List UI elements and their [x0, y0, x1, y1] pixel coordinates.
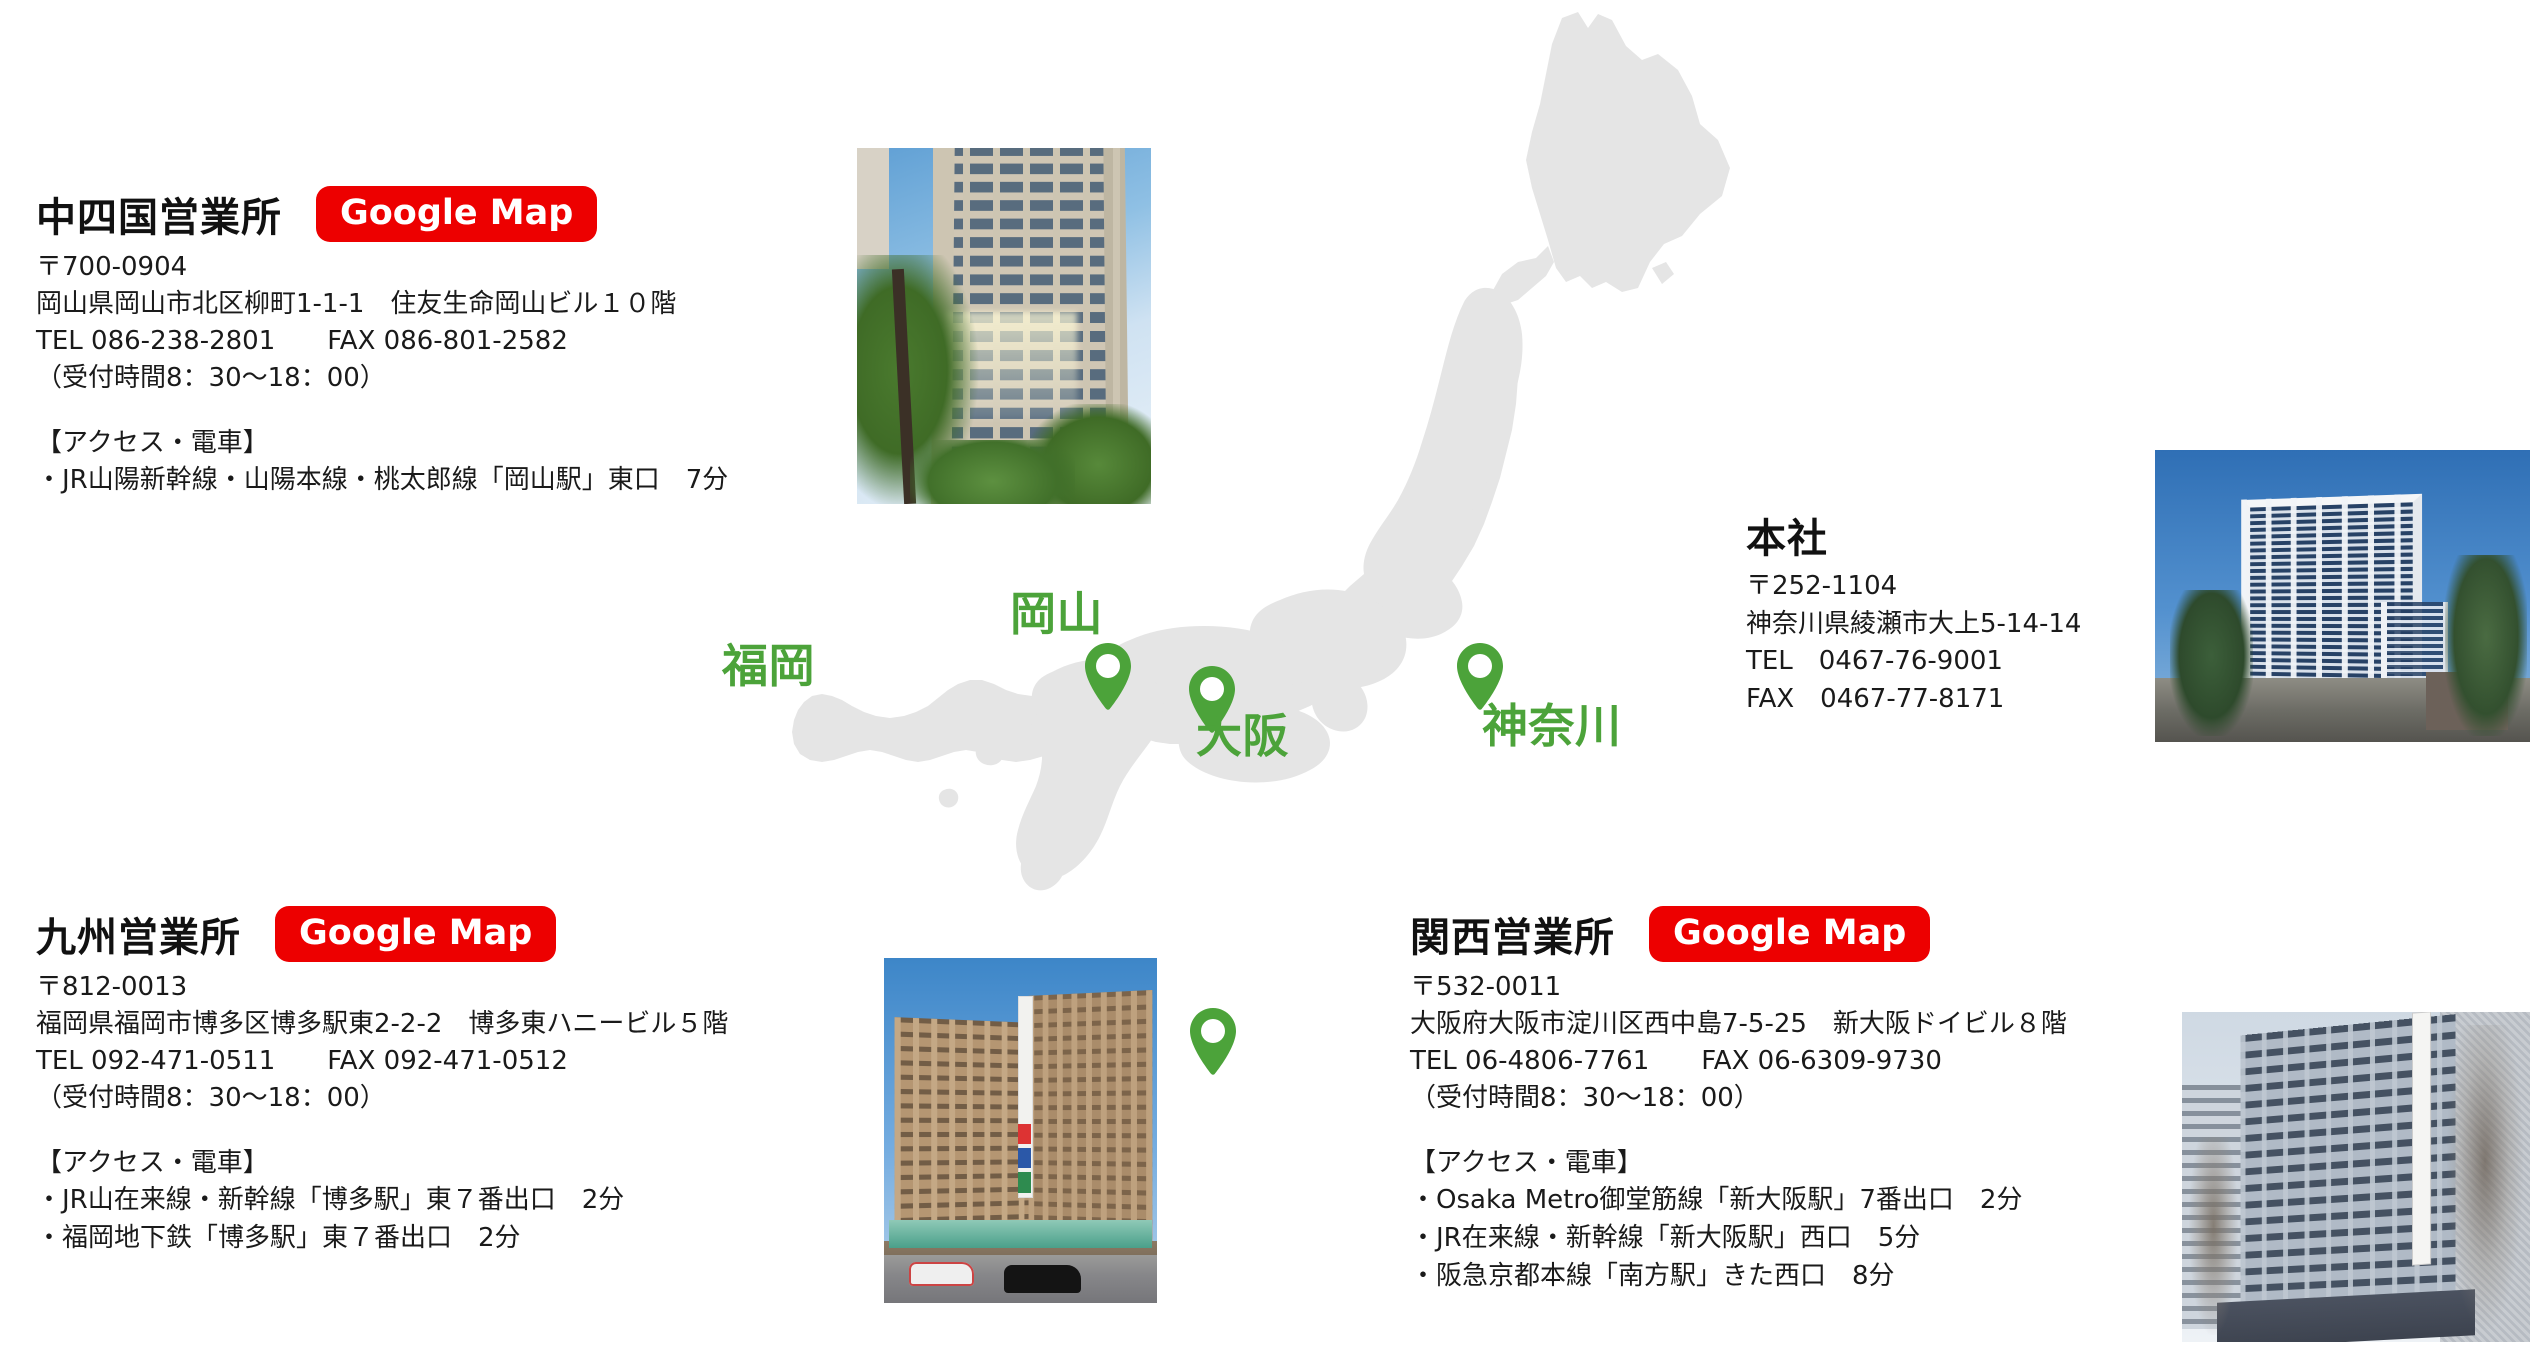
photo-sign-panel-red [1018, 1124, 1032, 1145]
office-title-kansai: 関西営業所 [1410, 905, 1615, 963]
spacer [36, 397, 728, 425]
photo-sign-panel-green [1018, 1172, 1032, 1193]
postal-code-kyushu: 〒812-0013 [36, 969, 728, 1006]
photo-shop-canopy [889, 1220, 1151, 1248]
office-header-kansai: 関西営業所 Google Map [1410, 905, 2067, 963]
photo-adjacent-building [857, 148, 889, 269]
postal-code-chushikoku: 〒700-0904 [36, 249, 728, 286]
office-block-kyushu: 九州営業所 Google Map 〒812-0013 福岡県福岡市博多区博多駅東… [36, 905, 728, 1258]
office-header-kyushu: 九州営業所 Google Map [36, 905, 728, 963]
photo-bottom-tree [910, 440, 1075, 504]
access-heading-kansai: 【アクセス・電車】 [1410, 1145, 2067, 1183]
photo-right-tree [2445, 555, 2528, 736]
photo-bare-tree-right [2447, 1025, 2524, 1329]
address-kansai: 大阪府大阪市淀川区西中島7-5-25 新大阪ドイビル８階 [1410, 1006, 2067, 1043]
tel-fax-kyushu: TEL 092-471-0511 FAX 092-471-0512 [36, 1043, 728, 1080]
access-line-kyushu-1: ・JR山在来線・新幹線「博多駅」東７番出口 2分 [36, 1182, 728, 1220]
access-line-chushikoku-1: ・JR山陽新幹線・山陽本線・桃太郎線「岡山駅」東口 7分 [36, 462, 728, 500]
business-hours-chushikoku: （受付時間8：30〜18：00） [36, 360, 728, 397]
photo-taxi-black [1004, 1265, 1080, 1293]
access-line-kansai-1: ・Osaka Metro御堂筋線「新大阪駅」7番出口 2分 [1410, 1182, 2067, 1220]
photo-right-face-columns [1028, 989, 1151, 1250]
office-block-honsha: 本社 〒252-1104 神奈川県綾瀬市大上5-14-14 TEL 0467-7… [1746, 506, 2081, 719]
city-label-fukuoka: 福岡 [722, 630, 815, 696]
office-title-chushikoku: 中四国営業所 [36, 185, 282, 243]
office-block-kansai: 関西営業所 Google Map 〒532-0011 大阪府大阪市淀川区西中島7… [1410, 905, 2067, 1295]
google-map-button-kansai[interactable]: Google Map [1649, 906, 1930, 962]
address-kyushu: 福岡県福岡市博多区博多駅東2-2-2 博多東ハニービル５階 [36, 1006, 728, 1043]
office-title-honsha: 本社 [1746, 506, 2081, 564]
kansai-office-building-photo [2182, 1012, 2530, 1342]
photo-sign-panel-blue [1018, 1148, 1032, 1169]
tel-fax-chushikoku: TEL 086-238-2801 FAX 086-801-2582 [36, 323, 728, 360]
access-heading-kyushu: 【アクセス・電車】 [36, 1145, 728, 1183]
google-map-button-chushikoku[interactable]: Google Map [316, 186, 597, 242]
chushikoku-office-building-photo [857, 148, 1151, 504]
office-header-chushikoku: 中四国営業所 Google Map [36, 185, 728, 243]
page-canvas: 福岡 岡山 大阪 神奈川 中四国営業所 Google Map 〒700-0904… [0, 0, 2530, 1361]
city-label-osaka: 大阪 [1196, 700, 1289, 766]
map-pin-fukuoka[interactable] [1186, 1006, 1240, 1078]
city-label-kanagawa: 神奈川 [1482, 690, 1622, 756]
fax-honsha: FAX 0467-77-8171 [1746, 681, 2081, 719]
photo-vertical-signboard [2412, 1012, 2431, 1265]
access-line-kansai-2: ・JR在来線・新幹線「新大阪駅」西口 5分 [1410, 1220, 2067, 1258]
access-line-kyushu-2: ・福岡地下鉄「博多駅」東７番出口 2分 [36, 1220, 728, 1258]
honsha-headquarters-building-photo [2155, 450, 2530, 742]
office-title-kyushu: 九州営業所 [36, 905, 241, 963]
tel-honsha: TEL 0467-76-9001 [1746, 643, 2081, 681]
business-hours-kansai: （受付時間8：30〜18：00） [1410, 1080, 2067, 1117]
city-label-okayama: 岡山 [1010, 578, 1103, 644]
postal-code-kansai: 〒532-0011 [1410, 969, 2067, 1006]
photo-left-tree [2170, 590, 2253, 736]
photo-taxi-white [909, 1262, 975, 1286]
photo-bare-tree-left [2189, 1137, 2238, 1335]
business-hours-kyushu: （受付時間8：30〜18：00） [36, 1080, 728, 1117]
office-block-chushikoku: 中四国営業所 Google Map 〒700-0904 岡山県岡山市北区柳町1-… [36, 185, 728, 500]
postal-code-honsha: 〒252-1104 [1746, 568, 2081, 606]
tel-fax-kansai: TEL 06-4806-7761 FAX 06-6309-9730 [1410, 1043, 2067, 1080]
map-pin-okayama[interactable] [1081, 641, 1135, 713]
address-chushikoku: 岡山県岡山市北区柳町1-1-1 住友生命岡山ビル１０階 [36, 286, 728, 323]
spacer [36, 1117, 728, 1145]
address-honsha: 神奈川県綾瀬市大上5-14-14 [1746, 606, 2081, 644]
access-heading-chushikoku: 【アクセス・電車】 [36, 425, 728, 463]
access-line-kansai-3: ・阪急京都本線「南方駅」きた西口 8分 [1410, 1258, 2067, 1296]
spacer [1410, 1117, 2067, 1145]
google-map-button-kyushu[interactable]: Google Map [275, 906, 556, 962]
photo-left-face-columns [894, 1017, 1028, 1251]
kyushu-office-building-photo [884, 958, 1157, 1303]
